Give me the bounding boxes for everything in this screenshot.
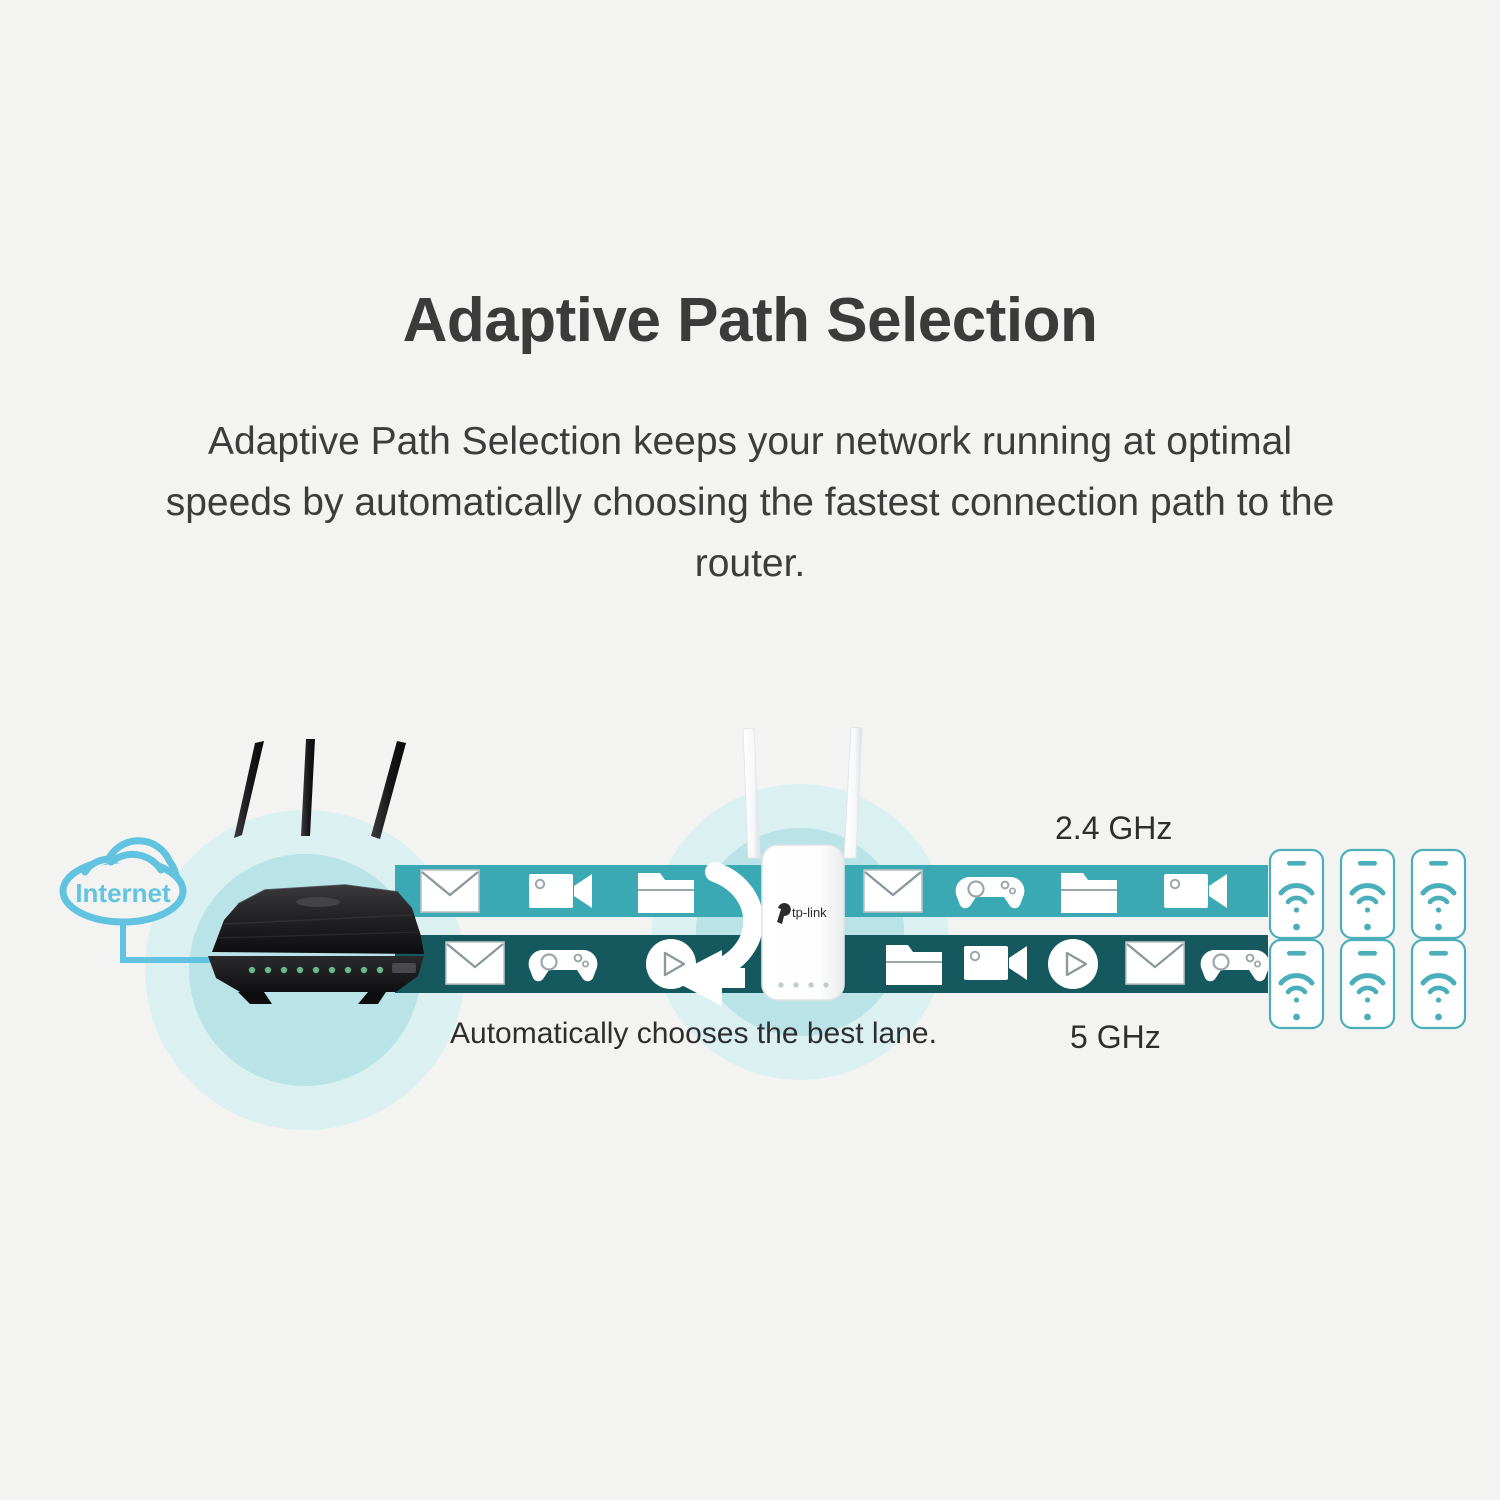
list-item	[1270, 850, 1323, 938]
list-item	[1341, 940, 1394, 1028]
list-item	[1412, 850, 1465, 938]
band-label-24ghz: 2.4 GHz	[1055, 810, 1172, 847]
list-item	[1270, 940, 1323, 1028]
page-title: Adaptive Path Selection	[0, 286, 1500, 355]
network-diagram: Internet	[0, 640, 1500, 1140]
svg-text:tp-link: tp-link	[792, 905, 827, 920]
arrow-caption: Automatically chooses the best lane.	[450, 1017, 937, 1051]
wifi-client-phones	[1270, 850, 1465, 1028]
list-item	[1341, 850, 1394, 938]
marketing-graphic: Adaptive Path Selection Adaptive Path Se…	[0, 0, 1500, 1500]
router-led-row	[249, 967, 383, 973]
band-label-5ghz: 5 GHz	[1070, 1019, 1161, 1056]
page-subtitle: Adaptive Path Selection keeps your netwo…	[150, 412, 1350, 594]
list-item	[1412, 940, 1465, 1028]
router-logo	[296, 897, 340, 907]
cloud-label: Internet	[75, 878, 171, 908]
